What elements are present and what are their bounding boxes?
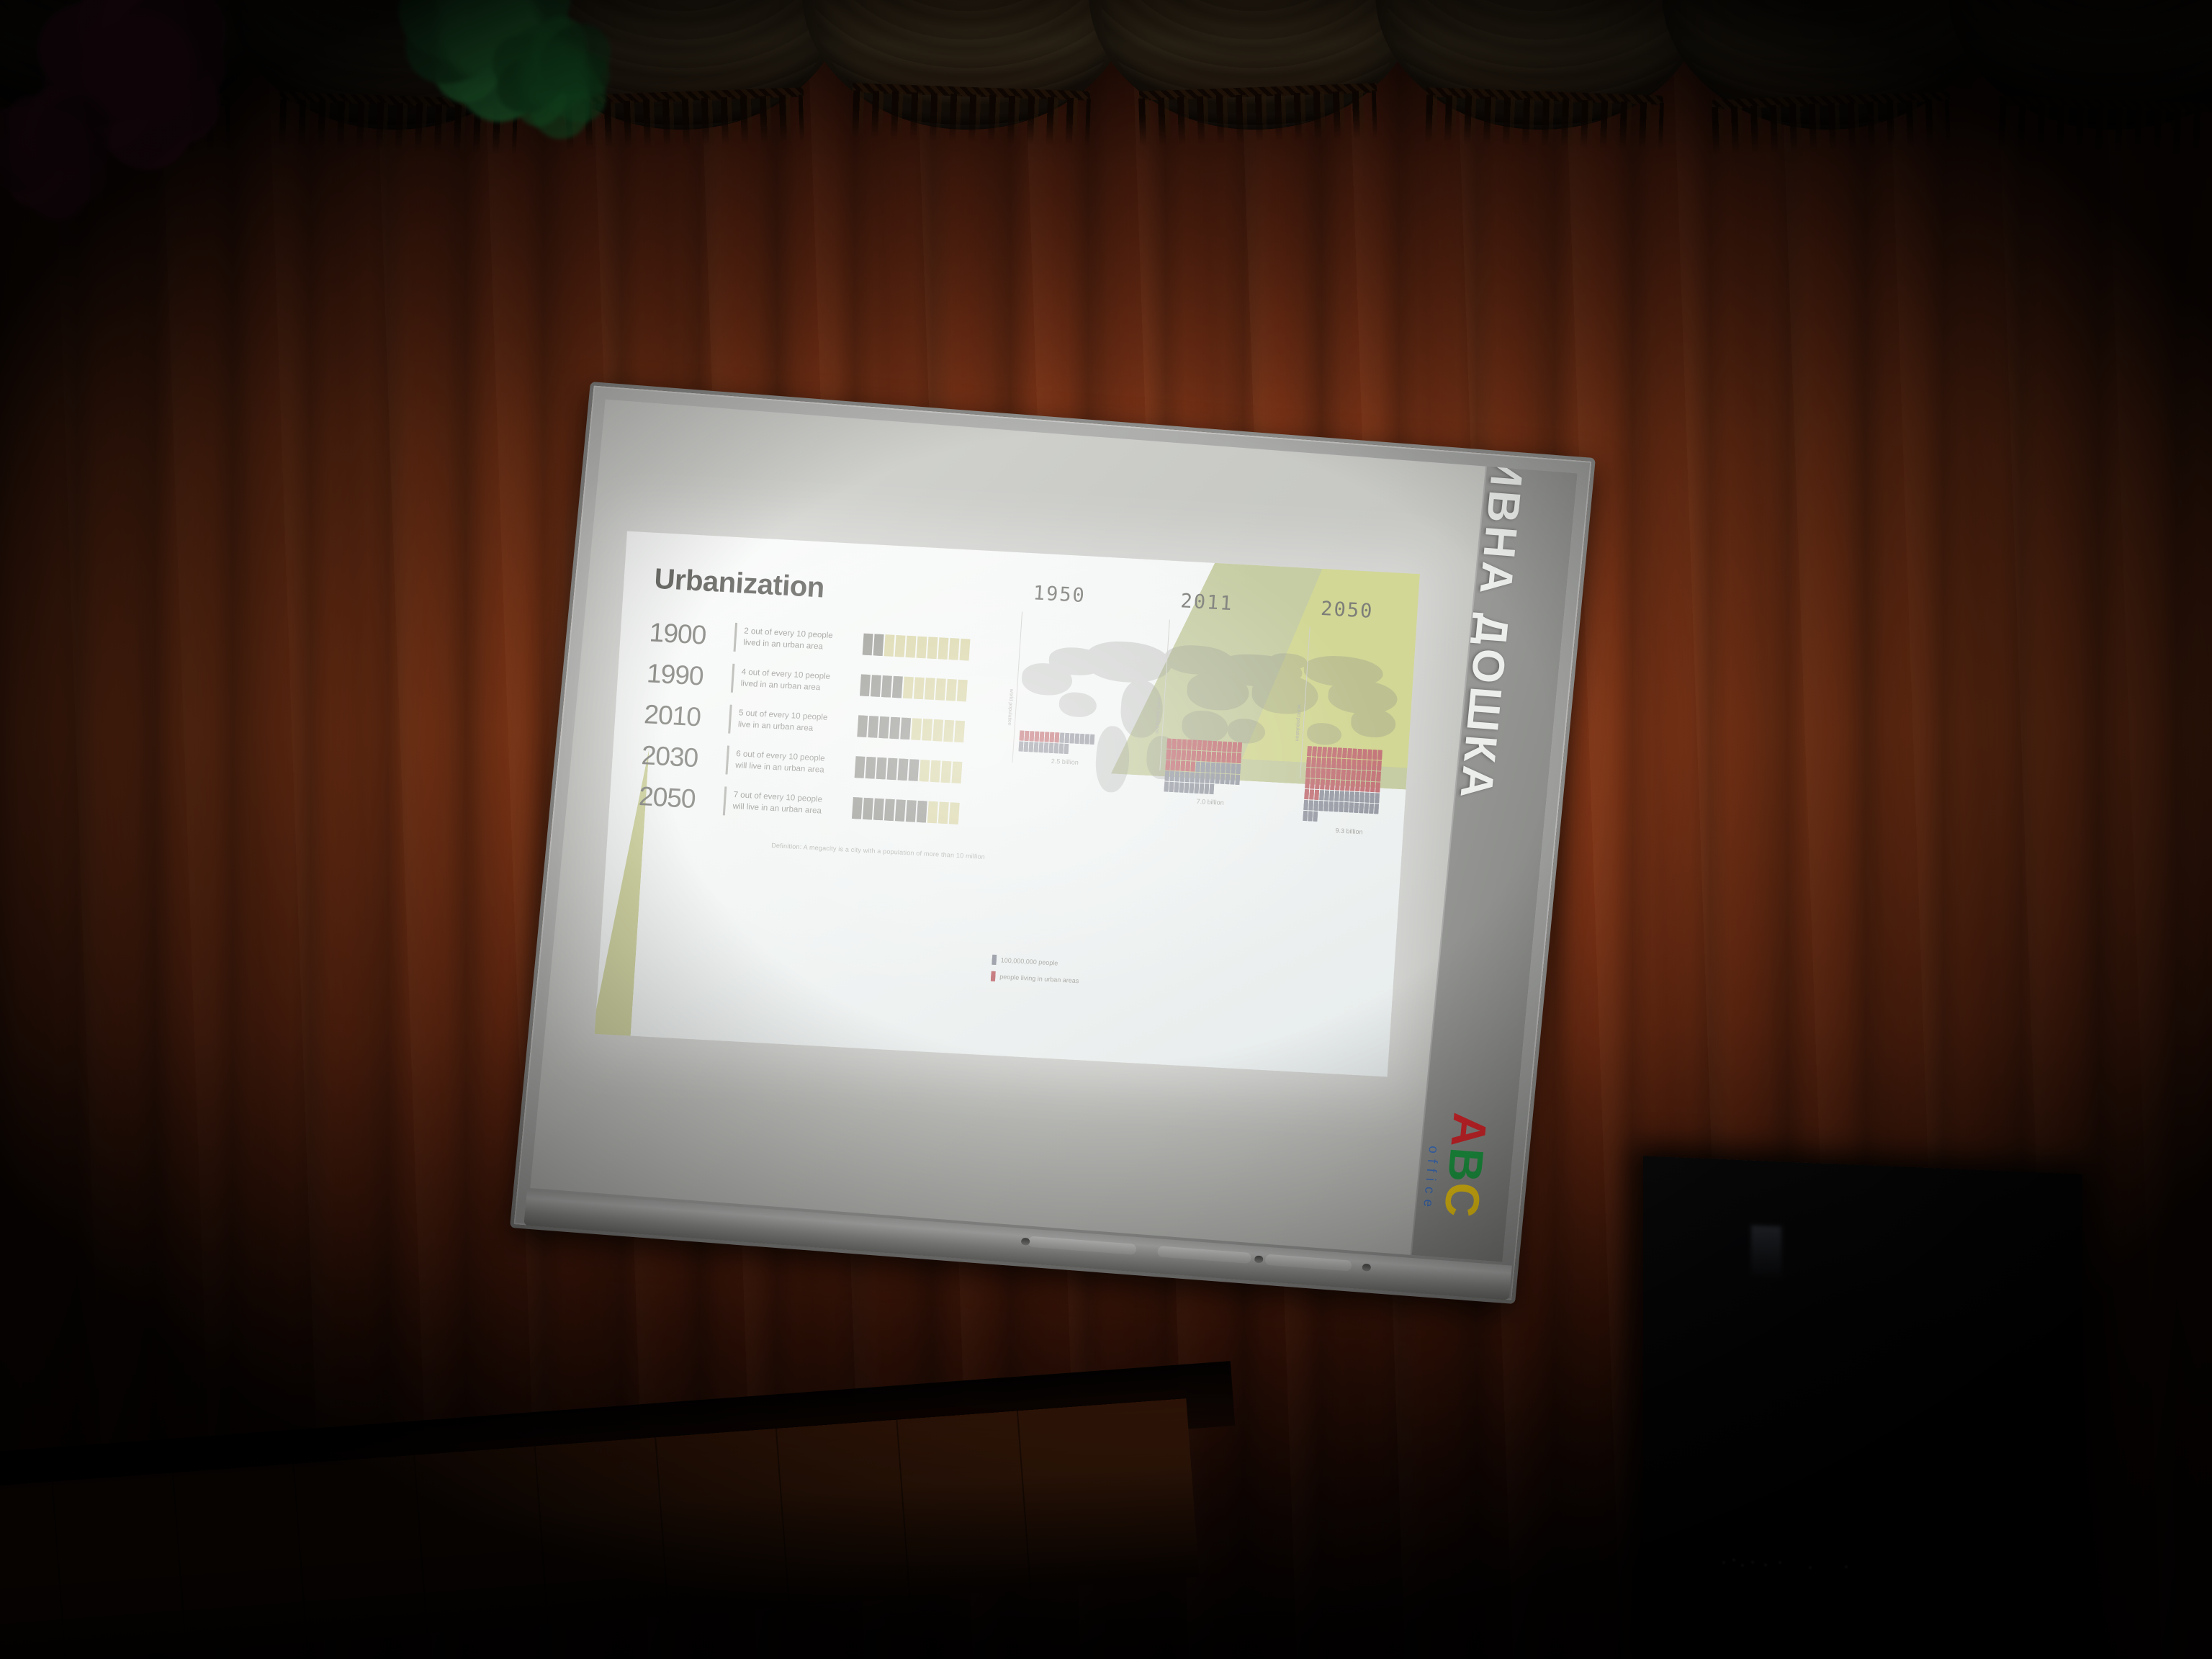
person-icon-urban	[1325, 779, 1330, 789]
person-icon-urban	[1309, 789, 1314, 799]
speaker-led	[1809, 1566, 1812, 1569]
person-icon-urban	[1370, 782, 1375, 792]
person-icon-urban	[855, 756, 866, 778]
person-icon-urban	[1327, 747, 1332, 757]
person-icon-urban	[1356, 770, 1361, 781]
person-icon-rural	[1190, 772, 1195, 782]
person-icon-rural	[1024, 742, 1029, 752]
person-icon-urban	[1196, 751, 1201, 761]
person-icon-urban	[1336, 769, 1341, 779]
person-icon-rural	[1364, 803, 1369, 813]
person-icon-rural	[1029, 742, 1034, 752]
person-icon-rural	[1058, 743, 1064, 753]
person-icon-rural	[1359, 803, 1364, 813]
person-icon-urban	[1316, 757, 1321, 768]
person-icon-urban	[1185, 761, 1190, 771]
person-icon-urban	[1216, 752, 1221, 762]
curtain-valance	[0, 0, 2212, 187]
person-icon-urban	[1310, 778, 1315, 788]
person-icon-rural	[954, 720, 965, 742]
stage-plank-seam	[775, 1429, 790, 1606]
person-icon-urban	[1181, 750, 1186, 760]
person-icon-rural	[917, 636, 927, 658]
person-icon-rural	[1084, 734, 1089, 744]
stage-plank-seam	[534, 1447, 549, 1624]
row-pictogram-group	[860, 674, 968, 701]
person-icon-rural	[1230, 774, 1235, 784]
person-icon-rural	[1199, 783, 1204, 793]
person-icon-urban	[1371, 771, 1376, 781]
person-icon-urban	[887, 757, 898, 780]
person-icon-urban	[1221, 752, 1226, 763]
person-icon-urban	[863, 633, 873, 655]
person-icon-rural	[1215, 763, 1220, 773]
urbanization-row-text: 5 out of every 10 people live in an urba…	[737, 708, 854, 737]
person-icon-urban	[1366, 771, 1371, 781]
person-icon-urban	[881, 675, 892, 698]
person-icon-rural	[1179, 772, 1184, 782]
person-icon-rural	[1210, 773, 1215, 783]
flower-center	[519, 40, 590, 112]
person-icon-rural	[927, 637, 938, 659]
person-icon-urban	[1307, 746, 1312, 756]
person-icon-rural	[1313, 801, 1318, 811]
person-icon-rural	[930, 760, 941, 782]
person-icon-rural	[1313, 811, 1318, 822]
person-icon-rural	[927, 801, 938, 823]
person-icon-urban	[876, 757, 887, 779]
marker-slot[interactable]	[1157, 1246, 1251, 1264]
person-icon-rural	[1375, 793, 1380, 803]
person-icon-urban	[1020, 730, 1025, 740]
person-icon-urban	[1362, 749, 1367, 759]
person-icon-rural	[1205, 762, 1210, 772]
valance-tassel-fringe	[1138, 90, 1377, 145]
population-pictogram-grid	[1019, 730, 1098, 755]
stage-plank-seam	[896, 1420, 910, 1598]
person-icon-rural	[1205, 773, 1210, 783]
person-icon-rural	[1049, 743, 1054, 753]
paper-flower-pink	[0, 65, 137, 238]
person-icon-urban	[1227, 742, 1232, 752]
person-icon-urban	[1376, 771, 1381, 781]
person-icon-urban	[1377, 750, 1382, 760]
person-icon-rural	[946, 678, 957, 701]
person-icon-urban	[1222, 742, 1227, 752]
person-icon-rural	[920, 760, 930, 782]
speaker-led	[1779, 1561, 1781, 1564]
person-icon-rural	[1215, 773, 1220, 783]
person-icon-rural	[938, 801, 949, 824]
person-icon-urban	[909, 759, 920, 781]
person-icon-rural	[1189, 783, 1194, 793]
person-icon-urban	[892, 675, 903, 698]
person-icon-urban	[1357, 749, 1362, 759]
person-icon-urban	[1312, 746, 1317, 756]
person-icon-urban	[1365, 782, 1370, 792]
person-icon-rural	[1079, 734, 1084, 744]
person-icon-rural	[1220, 763, 1226, 773]
person-icon-rural	[1164, 770, 1169, 781]
person-icon-urban	[1375, 782, 1380, 792]
person-icon-urban	[1180, 761, 1185, 771]
person-icon-urban	[1177, 739, 1182, 749]
person-icon-rural	[1369, 804, 1374, 814]
person-icon-rural	[1339, 791, 1344, 801]
abc-office-logo: ABC	[1434, 1111, 1498, 1220]
person-icon-rural	[1236, 764, 1241, 774]
person-icon-urban	[1342, 748, 1347, 758]
person-icon-rural	[1220, 774, 1225, 784]
speaker-led	[1741, 1564, 1744, 1567]
whiteboard-frame: Urbanization 19002 out of every 10 peopl…	[510, 382, 1596, 1304]
urbanization-row-list: 19002 out of every 10 people lived in an…	[637, 612, 1025, 837]
person-icon-urban	[895, 799, 906, 822]
person-icon-urban	[873, 798, 884, 820]
person-icon-urban	[1352, 748, 1357, 758]
person-icon-rural	[1319, 790, 1324, 800]
population-column: 2011world population7.0 billion	[1147, 589, 1283, 809]
person-icon-rural	[1200, 773, 1205, 783]
person-icon-urban	[1346, 770, 1351, 780]
population-column-year: 1950	[1033, 582, 1136, 610]
person-icon-rural	[1303, 800, 1308, 810]
person-icon-urban	[1311, 757, 1316, 767]
projected-slide: Urbanization 19002 out of every 10 peopl…	[595, 531, 1420, 1077]
person-icon-rural	[1339, 802, 1344, 812]
person-icon-urban	[1316, 768, 1321, 778]
person-icon-rural	[1044, 742, 1049, 752]
population-total-label: 7.0 billion	[1196, 798, 1270, 809]
person-icon-rural	[1374, 804, 1379, 814]
person-icon-urban	[873, 634, 884, 656]
person-icon-urban	[1331, 769, 1336, 779]
population-column: 1950world population2.5 billion	[1002, 581, 1136, 769]
person-icon-urban	[1187, 739, 1192, 750]
person-icon-rural	[949, 802, 960, 824]
legend-person-icon	[992, 955, 997, 965]
person-icon-urban	[1030, 731, 1035, 741]
person-icon-urban	[1231, 752, 1236, 763]
person-icon-rural	[1195, 762, 1200, 772]
population-column: 2050world population9.3 billion	[1286, 596, 1420, 837]
urbanization-row-year: 1990	[646, 658, 733, 693]
stage-plank-seam	[172, 1473, 186, 1650]
person-icon-rural	[1034, 742, 1039, 752]
person-icon-urban	[1034, 732, 1039, 742]
person-icon-rural	[1334, 791, 1339, 801]
person-icon-rural	[1334, 801, 1339, 811]
speaker-led	[1732, 1558, 1735, 1561]
person-icon-urban	[1326, 758, 1331, 768]
slide-caption: Definition: A megacity is a city with a …	[771, 842, 985, 860]
person-icon-urban	[1341, 759, 1346, 769]
person-icon-urban	[1305, 778, 1310, 788]
person-icon-urban	[1357, 760, 1362, 770]
urbanization-row-year: 2050	[638, 781, 725, 815]
person-icon-rural	[1195, 773, 1200, 783]
person-icon-rural	[943, 719, 954, 742]
person-icon-rural	[1318, 801, 1323, 811]
person-icon-rural	[1324, 790, 1329, 800]
person-icon-rural	[922, 719, 932, 741]
person-icon-rural	[1226, 763, 1231, 773]
person-icon-urban	[1317, 747, 1322, 757]
person-icon-urban	[1322, 747, 1327, 757]
urbanization-row-year: 1900	[649, 617, 736, 652]
person-icon-urban	[1170, 760, 1175, 770]
person-icon-urban	[860, 674, 871, 696]
person-icon-urban	[868, 716, 878, 738]
person-icon-urban	[1362, 760, 1367, 770]
marker-slot[interactable]	[1028, 1236, 1136, 1255]
person-icon-urban	[857, 715, 868, 737]
person-icon-rural	[895, 634, 906, 657]
person-icon-rural	[1184, 772, 1190, 782]
person-icon-rural	[911, 718, 922, 740]
person-icon-urban	[884, 799, 895, 821]
person-icon-urban	[889, 716, 900, 739]
person-icon-urban	[1361, 770, 1366, 781]
person-icon-urban	[1352, 759, 1357, 769]
person-icon-rural	[1064, 744, 1069, 754]
speaker-led	[1722, 1561, 1725, 1564]
speaker-led-row	[1722, 1557, 1881, 1576]
person-icon-urban	[1372, 760, 1377, 770]
person-icon-rural	[932, 719, 943, 741]
person-icon-rural	[914, 677, 925, 699]
person-icon-rural	[1308, 811, 1313, 821]
person-icon-urban	[1237, 742, 1242, 752]
pictogram-legend: 100,000,000 peoplepeople living in urban…	[990, 955, 1080, 992]
urbanization-row-text: 7 out of every 10 people will live in an…	[732, 790, 849, 819]
valance-tassel-fringe	[1998, 103, 2212, 158]
person-icon-rural	[925, 678, 935, 700]
person-icon-urban	[878, 716, 889, 738]
row-pictogram-group	[855, 756, 963, 783]
column-axis-label: world population	[1007, 689, 1014, 726]
person-icon-urban	[1367, 750, 1372, 760]
person-icon-rural	[1349, 791, 1354, 801]
person-icon-rural	[1210, 763, 1215, 773]
paper-flower-green	[475, 0, 634, 155]
person-icon-urban	[1165, 760, 1170, 770]
person-icon-urban	[1346, 759, 1352, 769]
person-icon-urban	[1320, 779, 1325, 789]
person-icon-urban	[1202, 740, 1207, 750]
urbanization-row-text: 4 out of every 10 people lived in an urb…	[740, 667, 857, 696]
person-icon-urban	[1236, 753, 1241, 763]
person-icon-rural	[1204, 783, 1209, 793]
person-icon-rural	[1370, 793, 1375, 803]
person-icon-urban	[1190, 761, 1195, 771]
person-icon-urban	[1172, 739, 1177, 749]
person-icon-urban	[1176, 750, 1181, 760]
speaker-led	[1751, 1561, 1754, 1564]
person-icon-urban	[917, 800, 927, 822]
person-icon-urban	[863, 797, 873, 819]
person-icon-rural	[1174, 771, 1179, 781]
person-icon-urban	[1326, 769, 1331, 779]
person-icon-rural	[1354, 792, 1359, 802]
person-icon-rural	[1354, 803, 1359, 813]
person-icon-rural	[952, 761, 963, 783]
person-icon-urban	[1331, 758, 1336, 768]
legend-label: people living in urban areas	[999, 973, 1079, 984]
person-icon-urban	[1166, 749, 1171, 759]
legend-person-icon	[991, 971, 996, 981]
person-icon-rural	[1344, 791, 1349, 801]
person-icon-rural	[1169, 771, 1174, 781]
person-icon-rural	[960, 638, 971, 660]
person-icon-urban	[1372, 750, 1377, 760]
person-icon-rural	[1344, 802, 1349, 812]
person-icon-urban	[1232, 742, 1237, 752]
row-pictogram-group	[852, 797, 960, 824]
speaker-highlight	[1751, 1226, 1781, 1279]
person-icon-rural	[1194, 783, 1199, 793]
row-pictogram-group	[857, 715, 965, 742]
person-icon-rural	[884, 634, 895, 657]
person-icon-rural	[1349, 802, 1354, 812]
person-icon-rural	[1174, 782, 1179, 792]
person-icon-rural	[1179, 783, 1184, 793]
person-icon-urban	[1332, 747, 1337, 757]
person-icon-urban	[1336, 758, 1341, 768]
person-icon-urban	[900, 717, 911, 739]
person-icon-urban	[1175, 760, 1180, 770]
stage-plank-seam	[1017, 1411, 1031, 1588]
person-icon-rural	[1303, 811, 1308, 821]
person-icon-urban	[1305, 768, 1310, 778]
valance-tassel-fringe	[852, 90, 1091, 145]
column-axis-label: world population	[1154, 697, 1161, 734]
person-icon-rural	[1039, 742, 1044, 752]
person-icon-rural	[903, 676, 914, 698]
person-icon-urban	[1182, 739, 1187, 750]
person-icon-rural	[1200, 762, 1205, 772]
urbanization-row-year: 2010	[643, 699, 730, 734]
person-icon-urban	[1321, 757, 1326, 768]
person-icon-rural	[1231, 763, 1236, 773]
tray-divider	[1362, 1264, 1371, 1272]
person-icon-rural	[1089, 734, 1094, 745]
person-icon-rural	[1308, 800, 1313, 810]
urbanization-row-year: 2030	[641, 740, 728, 775]
person-icon-urban	[1315, 779, 1320, 789]
logo-letter-c: C	[1434, 1181, 1491, 1220]
population-column-year: 2050	[1320, 598, 1419, 626]
population-column-year: 2011	[1180, 590, 1284, 618]
legend-label: 100,000,000 people	[1000, 956, 1058, 966]
person-icon-urban	[1049, 732, 1054, 742]
person-icon-urban	[871, 675, 881, 697]
person-icon-rural	[935, 678, 946, 701]
person-icon-urban	[906, 800, 917, 822]
urbanization-row-text: 6 out of every 10 people will live in an…	[735, 749, 852, 778]
urbanization-row-text: 2 out of every 10 people lived in an urb…	[743, 626, 860, 655]
person-icon-urban	[1377, 760, 1382, 770]
person-icon-urban	[898, 758, 909, 781]
person-icon-urban	[1212, 741, 1217, 751]
valance-tassel-fringe	[1425, 94, 1664, 150]
row-pictogram-group	[863, 633, 971, 660]
person-icon-urban	[1211, 752, 1216, 762]
person-icon-urban	[1206, 752, 1211, 762]
person-icon-rural	[1359, 792, 1364, 802]
speaker-led	[1845, 1565, 1848, 1568]
person-icon-rural	[1225, 774, 1230, 784]
person-icon-urban	[1314, 790, 1319, 800]
person-icon-urban	[1345, 781, 1350, 791]
person-icon-rural	[1069, 733, 1074, 743]
person-icon-rural	[1364, 792, 1370, 802]
tray-divider	[1254, 1255, 1264, 1263]
person-icon-urban	[1191, 750, 1196, 760]
person-icon-urban	[1306, 757, 1311, 767]
interactive-whiteboard[interactable]: Urbanization 19002 out of every 10 peopl…	[502, 382, 1668, 1395]
valance-tassel-fringe	[1712, 99, 1951, 154]
person-icon-urban	[852, 797, 863, 819]
person-icon-rural	[1059, 732, 1064, 742]
person-icon-urban	[1201, 751, 1206, 761]
person-icon-urban	[1347, 748, 1352, 758]
legend-row: people living in urban areas	[991, 971, 1079, 986]
person-icon-urban	[1304, 789, 1309, 799]
stage-plank-seam	[293, 1464, 307, 1642]
person-icon-urban	[1335, 780, 1340, 790]
loudspeaker-cabinet	[1643, 1156, 2082, 1659]
slide-title: Urbanization	[653, 563, 825, 605]
person-icon-urban	[1217, 741, 1222, 751]
person-icon-rural	[1019, 741, 1024, 751]
person-icon-urban	[1351, 770, 1356, 780]
person-icon-urban	[1360, 781, 1365, 791]
person-icon-urban	[1321, 768, 1326, 778]
person-icon-urban	[1367, 760, 1372, 770]
person-icon-urban	[1226, 752, 1231, 763]
logo-letter-a: A	[1441, 1111, 1497, 1150]
person-icon-urban	[1355, 781, 1360, 791]
person-icon-rural	[1209, 784, 1214, 794]
person-icon-urban	[1186, 750, 1191, 760]
person-icon-rural	[1074, 734, 1079, 744]
person-icon-urban	[1197, 740, 1202, 750]
speaker-led	[1764, 1563, 1767, 1566]
person-icon-urban	[866, 756, 876, 778]
marker-slot[interactable]	[1265, 1254, 1352, 1272]
stage-plank-seam	[52, 1482, 66, 1659]
person-icon-urban	[1207, 741, 1212, 751]
person-icon-rural	[1235, 775, 1240, 785]
person-icon-rural	[941, 760, 952, 783]
whiteboard-surface[interactable]: Urbanization 19002 out of every 10 peopl…	[530, 400, 1578, 1262]
person-icon-rural	[949, 638, 960, 660]
person-icon-urban	[1340, 781, 1345, 791]
population-total-label: 9.3 billion	[1335, 827, 1409, 837]
person-icon-rural	[1164, 781, 1169, 791]
person-icon-rural	[1184, 783, 1189, 793]
person-icon-rural	[957, 679, 968, 701]
person-icon-rural	[1328, 801, 1334, 811]
person-icon-urban	[1044, 732, 1049, 742]
stage-plank-seam	[413, 1455, 428, 1633]
person-icon-urban	[1337, 747, 1342, 757]
person-icon-urban	[1350, 781, 1355, 791]
person-icon-rural	[1053, 743, 1058, 753]
column-axis-label: world population	[1294, 704, 1301, 741]
person-icon-urban	[1054, 732, 1059, 742]
